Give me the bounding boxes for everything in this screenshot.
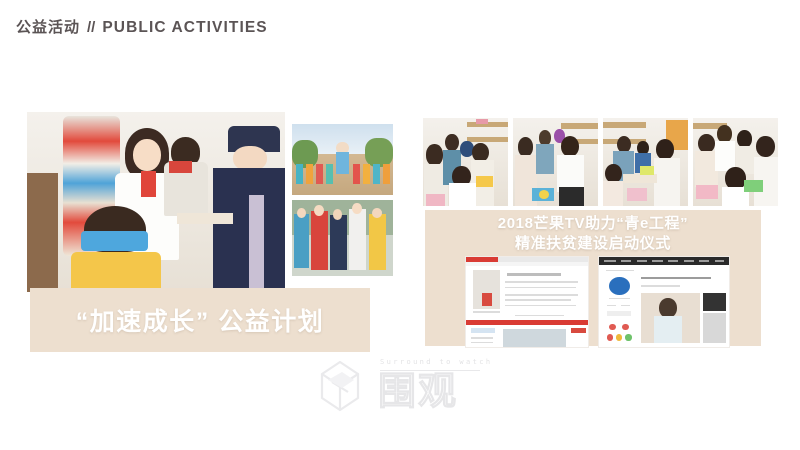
watermark-brand-cn: 围观 [378, 370, 458, 414]
right-grid-photo-1 [423, 118, 508, 206]
video-nav-item-2 [621, 260, 631, 263]
video-site-navbar [599, 257, 729, 265]
rg1-material-yellow [476, 176, 493, 187]
watermark: Surround to watch 围观 [318, 356, 488, 418]
news-address-bar [466, 262, 588, 266]
video-nav-item-4 [652, 260, 662, 263]
rg2-child-head-b [561, 136, 580, 157]
video-nav-item-3 [637, 260, 647, 263]
rg1-child-head-c [472, 143, 489, 162]
thumb1-tree-right [365, 138, 393, 166]
thumb1-leader-dress [336, 152, 348, 173]
news-second-site-line-2 [471, 342, 493, 344]
video-social-icon-5[interactable] [625, 334, 632, 340]
news-second-site-logo [471, 328, 495, 333]
news-text-line-5 [505, 305, 576, 307]
rg4-craft-green [744, 180, 763, 192]
page-title-separator: // [87, 19, 95, 36]
thumb1-student-b [306, 164, 313, 184]
news-text-line-6 [515, 315, 564, 317]
news-headline [507, 273, 561, 276]
left-thumbnail-2 [292, 200, 393, 276]
video-thumbnail-person-body [654, 316, 683, 343]
news-text-line-1 [505, 281, 578, 283]
video-nav-item-7 [699, 260, 709, 263]
news-text-line-3 [505, 294, 578, 296]
news-left-highlight [482, 293, 492, 306]
right-caption-line-2: 精准扶贫建设启动仪式 [425, 234, 761, 254]
news-left-line-1 [473, 311, 500, 313]
right-grid-photo-3 [603, 118, 688, 206]
thumb2-person-b [311, 211, 328, 270]
rg1-shelf-mid [467, 137, 508, 141]
rg2-child-shorts [559, 187, 585, 206]
thumb2-person-a [294, 214, 309, 269]
video-channel-name [609, 298, 630, 300]
thumb1-student-f [363, 164, 370, 184]
right-caption-line-1: 2018芒果TV助力“青e工程” [425, 214, 761, 234]
rg3-child-body-c [654, 158, 680, 206]
rg3-shelf-top [603, 122, 646, 128]
photo-woman-scarf [141, 171, 156, 196]
photo-woman-face [133, 139, 161, 171]
photo-desk [177, 213, 234, 224]
rg1-child-head-a [426, 144, 443, 165]
rg4-child-head-a [698, 134, 715, 153]
watermark-tagline: Surround to watch [380, 358, 492, 366]
rg2-teacher-body [536, 144, 554, 174]
page-title: 公益活动 // PUBLIC ACTIVITIES [16, 16, 268, 37]
rg4-craft-pink [696, 185, 718, 199]
rg1-material-pink [426, 194, 445, 206]
web-screenshot-news [465, 256, 589, 348]
thumb1-student-h [383, 164, 390, 184]
video-side-list [703, 313, 726, 344]
rg3-child-head-b [605, 164, 622, 183]
photo-child2-scarf [169, 161, 192, 174]
video-social-icon-1[interactable] [609, 324, 616, 330]
video-social-icon-3[interactable] [607, 334, 614, 340]
rg1-child-body-d [449, 183, 476, 206]
rg2-shelf-top [561, 123, 598, 128]
watermark-logo-icon [318, 360, 380, 418]
rg2-craft-item [539, 190, 549, 199]
video-thumbnail-person-head [659, 298, 677, 318]
rg4-child-head-c [756, 136, 775, 157]
news-second-site-navbar [466, 320, 588, 325]
video-social-icon-4[interactable] [616, 334, 623, 340]
rg3-craft-yellow [640, 166, 654, 175]
thumb2-person-d [349, 209, 366, 270]
video-nav-item-1 [604, 260, 616, 263]
rg3-child-body-b [603, 181, 623, 206]
right-caption-label: 2018芒果TV助力“青e工程” 精准扶贫建设启动仪式 [425, 214, 761, 254]
video-stat-1 [607, 305, 616, 307]
video-nav-item-6 [684, 260, 694, 263]
thumb1-student-a [296, 164, 303, 184]
photo-child-headband [81, 231, 148, 251]
video-subscribe-button[interactable] [607, 311, 632, 316]
rg1-shelf-item [476, 119, 488, 124]
thumb1-student-g [373, 164, 380, 184]
rg3-table [623, 174, 657, 183]
video-channel-avatar [609, 277, 630, 295]
left-caption-label: “加速成长” 公益计划 [30, 288, 370, 352]
video-social-icon-2[interactable] [622, 324, 629, 330]
news-second-site-line-1 [471, 337, 493, 339]
left-thumbnail-1 [292, 124, 393, 195]
rg3-craft-pink [627, 188, 647, 200]
video-nav-item-8 [715, 260, 724, 263]
photo-child-body [71, 252, 161, 292]
web-screenshot-video [598, 256, 730, 348]
page-title-en: PUBLIC ACTIVITIES [102, 19, 267, 37]
rg1-shelf-top [467, 122, 508, 127]
video-breadcrumb [606, 270, 635, 272]
left-main-photo [27, 112, 285, 292]
slide-canvas: 公益活动 // PUBLIC ACTIVITIES [0, 0, 800, 450]
photo-adult-trim [249, 195, 264, 289]
video-title [641, 277, 711, 280]
thumb2-face-e [372, 208, 382, 219]
thumb2-person-e [369, 214, 386, 270]
thumb1-student-e [353, 164, 360, 184]
right-grid-photo-4 [693, 118, 778, 206]
news-second-site-button [571, 328, 586, 333]
photo-wood-panel [27, 173, 58, 292]
thumb2-person-c [330, 215, 346, 270]
video-stat-2 [621, 305, 630, 307]
video-subtitle [641, 285, 680, 287]
video-side-panel [703, 293, 726, 311]
rg2-child-head-a [518, 137, 533, 156]
news-text-line-4 [505, 299, 571, 301]
video-nav-item-5 [668, 260, 678, 263]
thumb2-face-d [352, 203, 362, 214]
news-second-site-photo [503, 329, 566, 347]
page-title-cn: 公益活动 [16, 16, 80, 37]
right-grid-photo-2 [513, 118, 598, 206]
news-text-line-2 [505, 287, 576, 289]
thumb1-student-c [316, 164, 323, 184]
thumb1-student-d [326, 164, 333, 184]
